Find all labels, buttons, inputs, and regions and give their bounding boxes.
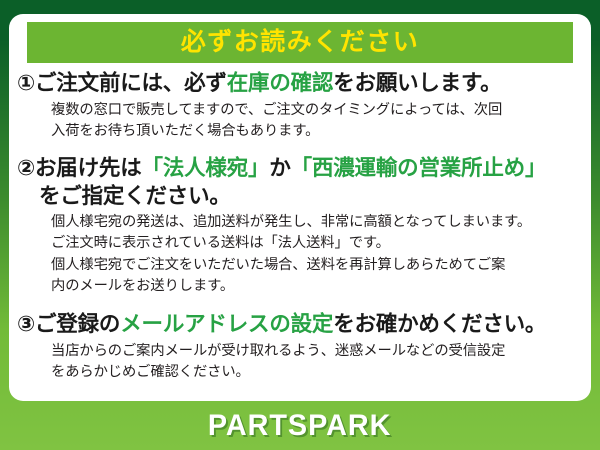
notice-item-2-heading-part-3: か [269,156,290,180]
notice-item-1-body: 複数の窓口で販売してますので、ご注文のタイミングによっては、次回 入荷をお待ち頂… [17,98,585,143]
brand-logo-text: PARTSPARK [208,411,392,441]
notice-item-1-heading: ①ご注文前には、必ず在庫の確認をお願いします。 [17,70,585,98]
notice-item-2-body-line-1: 個人様宅宛の発送は、追加送料が発生し、非常に高額となってしまいます。 [51,212,585,233]
notice-item-1-heading-part-3: をお願いします。 [333,71,501,95]
notice-item-1-body-line-2: 入荷をお待ち頂いただく場合もあります。 [51,121,585,142]
notice-item-3-body: 当店からのご案内メールが受け取れるよう、迷惑メールなどの受信設定 をあらかじめご… [17,339,585,384]
notice-items-list: ①ご注文前には、必ず在庫の確認をお願いします。 複数の窓口で販売してますので、ご… [9,70,591,383]
notice-item-2-highlight-2: 「西濃運輸の営業所止め」 [291,156,547,180]
notice-item-1-body-line-1: 複数の窓口で販売してますので、ご注文のタイミングによっては、次回 [51,100,585,121]
notice-item-2-body-line-2: ご注文時に表示されている送料は「法人送料」です。 [51,233,585,254]
notice-item-3-heading-part-1: ③ご登録の [17,312,120,336]
notice-item-3-body-line-2: をあらかじめご確認ください。 [51,362,585,383]
notice-item-3: ③ご登録のメールアドレスの設定をお確かめください。 当店からのご案内メールが受け… [9,311,591,383]
notice-item-1-highlight: 在庫の確認 [227,71,334,95]
notice-item-2-highlight-1: 「法人様宛」 [142,156,270,180]
notice-item-2-heading-line-2: をご指定ください。 [17,183,585,211]
notice-item-2-body-line-3: 個人様宅宛でご注文をいただいた場合、送料を再計算しあらためてご案 [51,255,585,276]
footer: PARTSPARK [0,401,600,450]
content-panel: 必ずお読みください ①ご注文前には、必ず在庫の確認をお願いします。 複数の窓口で… [9,14,591,401]
notice-item-2-body: 個人様宅宛の発送は、追加送料が発生し、非常に高額となってしまいます。 ご注文時に… [17,210,585,297]
notice-item-2-body-line-4: 内のメールをお送りします。 [51,276,585,297]
notice-item-2: ②お届け先は「法人様宛」か「西濃運輸の営業所止め」をご指定ください。 個人様宅宛… [9,155,591,297]
notice-item-3-heading: ③ご登録のメールアドレスの設定をお確かめください。 [17,311,585,339]
notice-item-1: ①ご注文前には、必ず在庫の確認をお願いします。 複数の窓口で販売してますので、ご… [9,70,591,142]
notice-item-3-highlight: メールアドレスの設定 [120,312,333,336]
header-banner: 必ずお読みください [27,22,573,63]
notice-item-3-body-line-1: 当店からのご案内メールが受け取れるよう、迷惑メールなどの受信設定 [51,341,585,362]
notice-banner: 必ずお読みください ①ご注文前には、必ず在庫の確認をお願いします。 複数の窓口で… [0,0,600,450]
page-title: 必ずお読みください [181,30,420,55]
notice-item-3-heading-part-3: をお確かめください。 [333,312,546,336]
notice-item-2-heading: ②お届け先は「法人様宛」か「西濃運輸の営業所止め」をご指定ください。 [17,155,585,210]
notice-item-2-heading-part-1: ②お届け先は [17,156,142,180]
notice-item-1-heading-part-1: ①ご注文前には、必ず [17,71,227,95]
